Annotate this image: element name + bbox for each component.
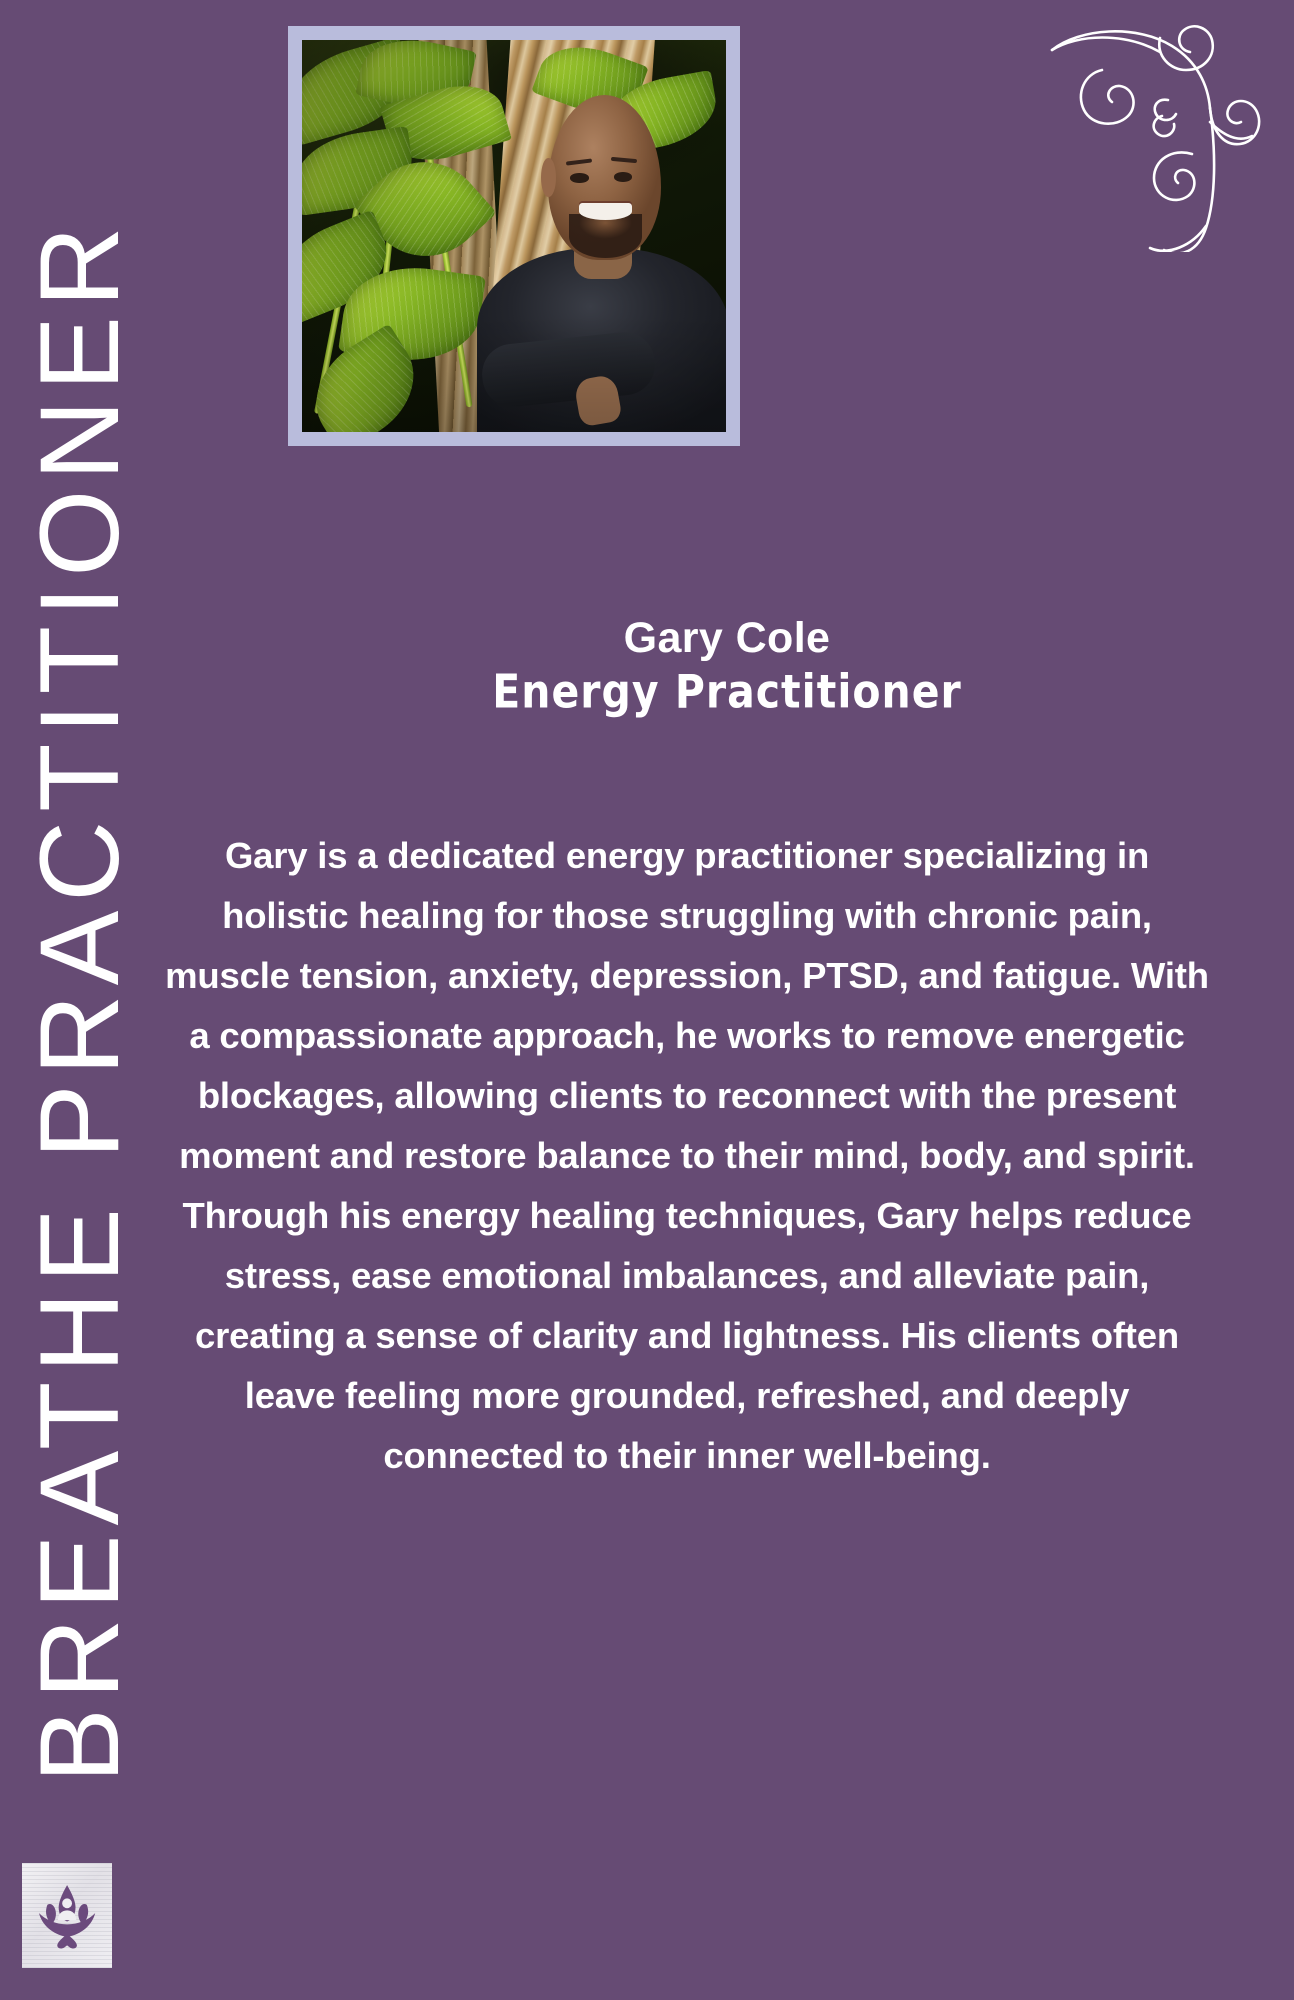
- portrait-frame: [288, 26, 740, 446]
- portrait-photo: [302, 40, 726, 432]
- person-figure: [472, 64, 726, 432]
- practitioner-name: Gary Cole: [160, 614, 1294, 663]
- lotus-logo: [22, 1863, 112, 1968]
- practitioner-profile-poster: BREATHE PRACTITIONER: [0, 0, 1294, 2000]
- side-title: BREATHE PRACTITIONER: [24, 217, 136, 1783]
- practitioner-bio: Gary is a dedicated energy practitioner …: [160, 826, 1214, 1486]
- practitioner-role: Energy Practitioner: [160, 665, 1294, 719]
- side-title-container: BREATHE PRACTITIONER: [0, 0, 160, 2000]
- flourish-icon: [1040, 12, 1270, 252]
